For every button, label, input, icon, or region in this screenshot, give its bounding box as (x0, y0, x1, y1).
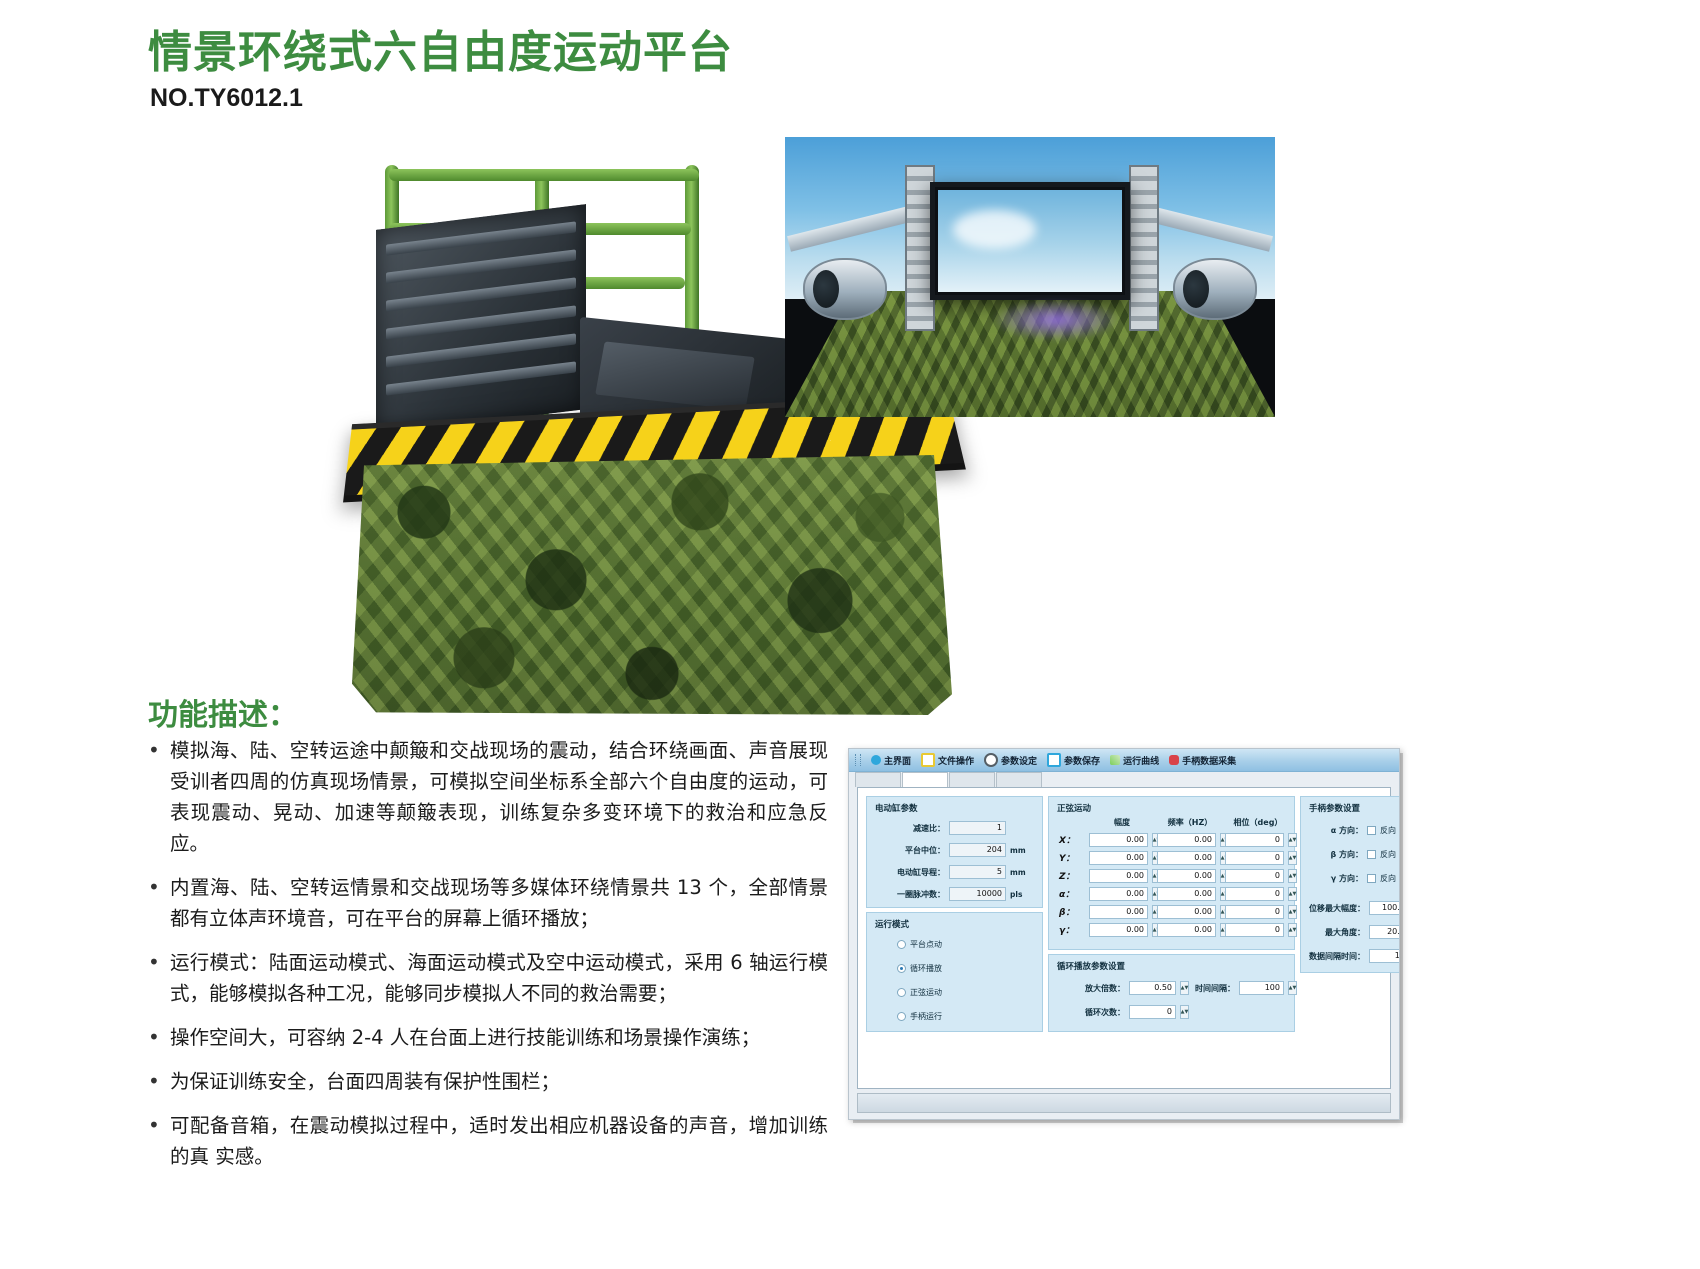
sine-phase-alpha[interactable]: 0 (1225, 887, 1284, 901)
app-content-area: 电动缸参数 减速比： 1 平台中位： 204 mm 电动缸导程： 5 mm 一圈… (857, 787, 1391, 1089)
chart-icon (1110, 755, 1120, 765)
column-header-phase: 相位（deg） (1227, 817, 1289, 828)
sine-phase-y[interactable]: 0 (1225, 851, 1284, 865)
stepper-icon[interactable]: ▲▼ (1288, 981, 1297, 995)
stepper-icon[interactable]: ▲▼ (1288, 851, 1297, 865)
page-title: 情景环绕式六自由度运动平台 (148, 16, 733, 80)
platform-screen-stack (376, 204, 586, 435)
sine-phase-beta[interactable]: 0 (1225, 905, 1284, 919)
loop-params-group: 循环播放参数设置 放大倍数： 0.50 ▲▼ 时间间隔： 100 ▲▼ 循环次数… (1048, 954, 1295, 1032)
folder-icon (921, 753, 935, 767)
axis-label-gamma: γ： (1059, 923, 1074, 936)
field-value[interactable]: 1 (949, 821, 1006, 835)
checkbox-reverse-beta[interactable] (1367, 850, 1376, 859)
list-item: • 为保证训练安全，台面四周装有保护性围栏； (148, 1066, 828, 1097)
radio-icon[interactable] (897, 988, 906, 997)
field-value[interactable]: 20.00 (1369, 925, 1400, 939)
direction-label: α 方向： (1317, 825, 1363, 836)
radio-label: 正弦运动 (910, 987, 942, 998)
direction-alpha[interactable]: α 方向： 反向 (1317, 825, 1396, 836)
bullet-marker: • (148, 1022, 170, 1053)
list-item: • 模拟海、陆、空转运途中颠簸和交战现场的震动，结合环绕画面、声音展现受训者四周… (148, 735, 828, 859)
joystick-params-group: 手柄参数设置 α 方向： 反向 β 方向： 反向 γ 方向： 反向 位移最大幅度… (1300, 796, 1400, 973)
toolbar-label: 参数保存 (1064, 754, 1100, 767)
field-cylinder-lead: 电动缸导程： 5 mm (873, 865, 1026, 879)
model-number: NO.TY6012.1 (150, 84, 303, 113)
radio-icon[interactable] (897, 940, 906, 949)
axis-label-beta: β： (1059, 905, 1074, 918)
tab-strip[interactable] (855, 772, 1042, 786)
field-zoom-factor: 放大倍数： 0.50 ▲▼ (1063, 981, 1189, 995)
features-list: • 模拟海、陆、空转运途中颠簸和交战现场的震动，结合环绕画面、声音展现受训者四周… (148, 735, 828, 1185)
field-value[interactable]: 100.00 (1369, 901, 1400, 915)
radio-option-joystick[interactable]: 手柄运行 (897, 1011, 942, 1022)
bullet-marker: • (148, 1066, 170, 1097)
tab-1[interactable] (855, 772, 901, 787)
axis-label-y: Y： (1059, 851, 1075, 864)
bullet-marker: • (148, 1110, 170, 1172)
toolbar-label: 参数设定 (1001, 754, 1037, 767)
list-item-text: 操作空间大，可容纳 2-4 人在台面上进行技能训练和场景操作演练； (170, 1022, 760, 1053)
group-title: 正弦运动 (1057, 802, 1091, 814)
checkbox-reverse-gamma[interactable] (1367, 874, 1376, 883)
direction-beta[interactable]: β 方向： 反向 (1317, 849, 1396, 860)
field-data-interval: 数据间隔时间： 100 ▲▼ ms (1305, 949, 1400, 963)
sine-phase-z[interactable]: 0 (1225, 869, 1284, 883)
bullet-marker: • (148, 872, 170, 934)
field-reduction-ratio: 减速比： 1 (873, 821, 1010, 835)
field-label: 数据间隔时间： (1305, 951, 1365, 962)
field-label: 平台中位： (873, 845, 945, 856)
checkbox-label: 反向 (1380, 825, 1396, 836)
joystick-icon (1169, 755, 1179, 765)
sine-phase-x[interactable]: 0 (1225, 833, 1284, 847)
radio-label: 循环播放 (910, 963, 942, 974)
list-item-text: 模拟海、陆、空转运途中颠簸和交战现场的震动，结合环绕画面、声音展现受训者四周的仿… (170, 735, 828, 859)
field-value[interactable]: 204 (949, 843, 1006, 857)
toolbar-item-joystick-capture[interactable]: 手柄数据采集 (1169, 754, 1236, 767)
camouflage-skirt (352, 455, 952, 715)
list-item: • 运行模式：陆面运动模式、海面运动模式及空中运动模式，采用 6 轴运行模式，能… (148, 947, 828, 1009)
column-header-frequency: 频率（HZ） (1159, 817, 1221, 828)
group-title: 电动缸参数 (875, 802, 918, 814)
field-platform-mid: 平台中位： 204 mm (873, 843, 1026, 857)
save-icon (1047, 753, 1061, 767)
field-time-interval: 时间间隔： 100 ▲▼ (1179, 981, 1297, 995)
floor-light-glow (991, 299, 1121, 341)
toolbar-label: 文件操作 (938, 754, 974, 767)
list-item-text: 运行模式：陆面运动模式、海面运动模式及空中运动模式，采用 6 轴运行模式，能够模… (170, 947, 828, 1009)
sine-amplitude-z[interactable]: 0.00 (1089, 869, 1148, 883)
product-photo (150, 125, 1310, 675)
sine-frequency-z[interactable]: 0.00 (1157, 869, 1216, 883)
group-title: 手柄参数设置 (1309, 802, 1360, 814)
stepper-icon[interactable]: ▲▼ (1288, 833, 1297, 847)
left-aircraft-wing (793, 232, 923, 342)
sine-frequency-x[interactable]: 0.00 (1157, 833, 1216, 847)
sine-frequency-gamma[interactable]: 0.00 (1157, 923, 1216, 937)
toolbar-item-run-curve[interactable]: 运行曲线 (1110, 754, 1159, 767)
tab-3[interactable] (949, 772, 995, 787)
group-title: 运行模式 (875, 918, 909, 930)
radio-label: 手柄运行 (910, 1011, 942, 1022)
gear-icon (984, 753, 998, 767)
direction-label: γ 方向： (1317, 873, 1363, 884)
sine-phase-gamma[interactable]: 0 (1225, 923, 1284, 937)
field-label: 放大倍数： (1063, 983, 1125, 994)
field-label: 减速比： (873, 823, 945, 834)
stepper-icon[interactable]: ▲▼ (1288, 869, 1297, 883)
sine-amplitude-beta[interactable]: 0.00 (1089, 905, 1148, 919)
field-value[interactable]: 5 (949, 865, 1006, 879)
status-bar (857, 1093, 1391, 1113)
stepper-icon[interactable]: ▲▼ (1288, 905, 1297, 919)
list-item: • 内置海、陆、空转运情景和交战现场等多媒体环绕情景共 13 个，全部情景都有立… (148, 872, 828, 934)
axis-label-x: X： (1059, 833, 1075, 846)
field-max-displacement: 位移最大幅度： 100.00 ▲▼ mm (1305, 901, 1400, 915)
sine-amplitude-gamma[interactable]: 0.00 (1089, 923, 1148, 937)
list-item-text: 内置海、陆、空转运情景和交战现场等多媒体环绕情景共 13 个，全部情景都有立体声… (170, 872, 828, 934)
field-unit: pls (1010, 890, 1022, 899)
control-software-window[interactable]: 主界面 文件操作 参数设定 参数保存 运行曲线 手柄数据采集 (848, 748, 1400, 1120)
sine-amplitude-y[interactable]: 0.00 (1089, 851, 1148, 865)
toolbar-item-param-save[interactable]: 参数保存 (1047, 753, 1100, 767)
bullet-marker: • (148, 947, 170, 1009)
home-icon (871, 755, 881, 765)
toolbar-item-file-ops[interactable]: 文件操作 (921, 753, 974, 767)
sine-amplitude-x[interactable]: 0.00 (1089, 833, 1148, 847)
field-label: 时间间隔： (1179, 983, 1235, 994)
field-pulses-per-rev: 一圈脉冲数： 10000 pls (873, 887, 1022, 901)
field-label: 位移最大幅度： (1305, 903, 1365, 914)
tab-4[interactable] (996, 772, 1042, 787)
radio-label: 平台点动 (910, 939, 942, 950)
field-label: 循环次数： (1063, 1007, 1125, 1018)
field-unit: mm (1010, 868, 1026, 877)
list-item: • 可配备音箱，在震动模拟过程中，适时发出相应机器设备的声音，增加训练的真 实感… (148, 1110, 828, 1172)
field-label: 电动缸导程： (873, 867, 945, 878)
field-value[interactable]: 0 (1129, 1005, 1176, 1019)
checkbox-reverse-alpha[interactable] (1367, 826, 1376, 835)
direction-label: β 方向： (1317, 849, 1363, 860)
bullet-marker: • (148, 735, 170, 859)
axis-label-z: Z： (1059, 869, 1075, 882)
field-label: 最大角度： (1305, 927, 1365, 938)
sine-motion-group: 正弦运动 幅度 频率（HZ） 相位（deg） X： 0.00▲▼ 0.00▲▼ … (1048, 796, 1295, 950)
toolbar-grip[interactable] (855, 754, 861, 766)
features-heading: 功能描述： (148, 690, 298, 734)
list-item: • 操作空间大，可容纳 2-4 人在台面上进行技能训练和场景操作演练； (148, 1022, 828, 1053)
list-item-text: 为保证训练安全，台面四周装有保护性围栏； (170, 1066, 560, 1097)
group-title: 循环播放参数设置 (1057, 960, 1125, 972)
stepper-icon[interactable]: ▲▼ (1180, 1005, 1189, 1019)
sine-frequency-alpha[interactable]: 0.00 (1157, 887, 1216, 901)
checkbox-label: 反向 (1380, 849, 1396, 860)
stepper-icon[interactable]: ▲▼ (1288, 923, 1297, 937)
field-value[interactable]: 100 (1239, 981, 1284, 995)
field-unit: mm (1010, 846, 1026, 855)
run-mode-group: 运行模式 平台点动 循环播放 正弦运动 手柄运行 (866, 912, 1043, 1032)
field-value[interactable]: 10000 (949, 887, 1006, 901)
radio-icon-selected[interactable] (897, 964, 906, 973)
toolbar-label: 手柄数据采集 (1182, 754, 1236, 767)
radio-option-sine[interactable]: 正弦运动 (897, 987, 942, 998)
axis-label-alpha: α： (1059, 887, 1074, 900)
cylinder-params-group: 电动缸参数 减速比： 1 平台中位： 204 mm 电动缸导程： 5 mm 一圈… (866, 796, 1043, 908)
stepper-icon[interactable]: ▲▼ (1288, 887, 1297, 901)
app-toolbar[interactable]: 主界面 文件操作 参数设定 参数保存 运行曲线 手柄数据采集 (849, 749, 1399, 772)
toolbar-label: 主界面 (884, 754, 911, 767)
field-label: 一圈脉冲数： (873, 889, 945, 900)
direction-gamma[interactable]: γ 方向： 反向 (1317, 873, 1396, 884)
list-item-text: 可配备音箱，在震动模拟过程中，适时发出相应机器设备的声音，增加训练的真 实感。 (170, 1110, 828, 1172)
sine-amplitude-alpha[interactable]: 0.00 (1089, 887, 1148, 901)
sine-frequency-y[interactable]: 0.00 (1157, 851, 1216, 865)
field-max-angle: 最大角度： 20.00 ▲▼ deg (1305, 925, 1400, 939)
toolbar-item-param-setup[interactable]: 参数设定 (984, 753, 1037, 767)
toolbar-label: 运行曲线 (1123, 754, 1159, 767)
radio-icon[interactable] (897, 1012, 906, 1021)
checkbox-label: 反向 (1380, 873, 1396, 884)
field-loop-count: 循环次数： 0 ▲▼ (1063, 1005, 1189, 1019)
field-value[interactable]: 100 (1369, 949, 1400, 963)
surround-screen-montage (785, 137, 1275, 417)
center-display (930, 182, 1130, 300)
field-value[interactable]: 0.50 (1129, 981, 1176, 995)
column-header-amplitude: 幅度 (1091, 817, 1153, 828)
radio-option-loop-play[interactable]: 循环播放 (897, 963, 942, 974)
toolbar-item-main[interactable]: 主界面 (871, 754, 911, 767)
sine-frequency-beta[interactable]: 0.00 (1157, 905, 1216, 919)
radio-option-jog[interactable]: 平台点动 (897, 939, 942, 950)
right-screen-pillar (1129, 165, 1159, 331)
